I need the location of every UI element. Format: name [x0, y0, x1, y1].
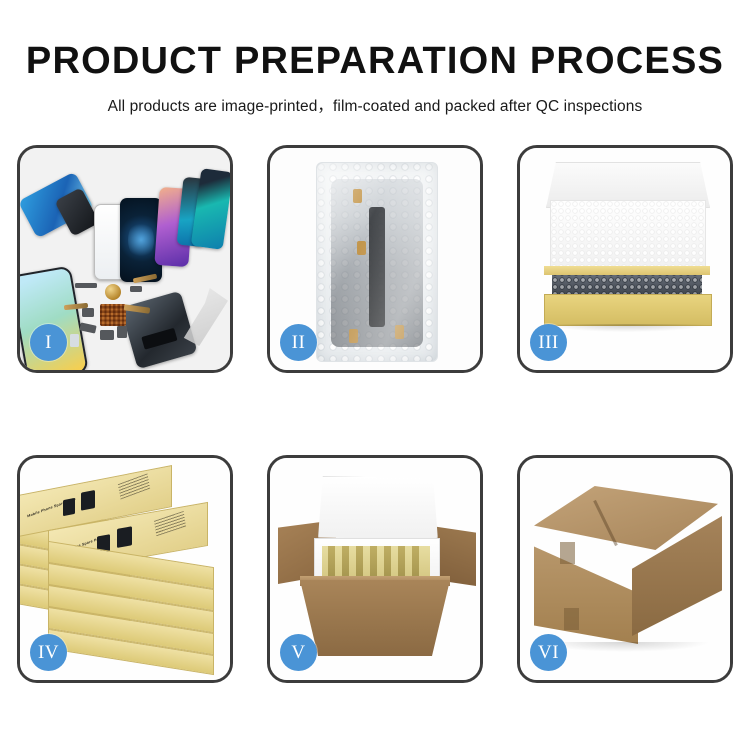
foam-sheet	[550, 200, 706, 274]
small-part	[75, 283, 97, 288]
box-front-panel	[544, 294, 712, 326]
gold-tab	[349, 329, 358, 343]
step-badge-5: V	[280, 634, 317, 671]
process-step-5[interactable]: V	[267, 455, 483, 683]
page-subtitle: All products are image-printed，film-coat…	[0, 94, 750, 116]
small-part	[117, 326, 127, 338]
step-badge-2: II	[280, 324, 317, 361]
process-step-4[interactable]: Mobile Phone Spare Parts Mobile Phone Sp…	[17, 455, 233, 683]
screw-grid	[100, 304, 126, 326]
phone-thumbnail	[63, 498, 75, 516]
small-part	[82, 308, 94, 317]
header: PRODUCT PREPARATION PROCESS All products…	[0, 0, 750, 116]
process-step-6[interactable]: VI	[517, 455, 733, 683]
process-step-2[interactable]: II	[267, 145, 483, 373]
process-step-3[interactable]: III	[517, 145, 733, 373]
box-inner-lip	[544, 266, 710, 275]
carton-body	[300, 580, 450, 656]
vibration-motor	[105, 284, 121, 300]
box-shadow	[548, 324, 706, 332]
bubble-wrap-bag	[316, 162, 438, 362]
label-text-lines	[154, 511, 186, 536]
gold-tab	[395, 325, 404, 339]
small-part	[130, 286, 142, 292]
carton-tape	[564, 608, 579, 630]
process-steps-grid: I II III	[17, 145, 733, 713]
small-part	[70, 334, 79, 347]
styrofoam-lid	[318, 476, 438, 540]
gold-tab	[357, 241, 366, 255]
process-step-1[interactable]: I	[17, 145, 233, 373]
small-part	[100, 330, 114, 340]
step-badge-6: VI	[530, 634, 567, 671]
phone-thumbnail	[81, 490, 95, 511]
step-badge-4: IV	[30, 634, 67, 671]
label-text-lines	[118, 473, 150, 499]
page-title: PRODUCT PREPARATION PROCESS	[0, 42, 750, 82]
carton-tape	[560, 542, 575, 564]
step-badge-1: I	[30, 324, 67, 361]
gold-tab	[353, 189, 362, 203]
step-badge-3: III	[530, 324, 567, 361]
phone-thumbnail	[117, 526, 132, 548]
flex-cable-strip	[369, 207, 385, 327]
